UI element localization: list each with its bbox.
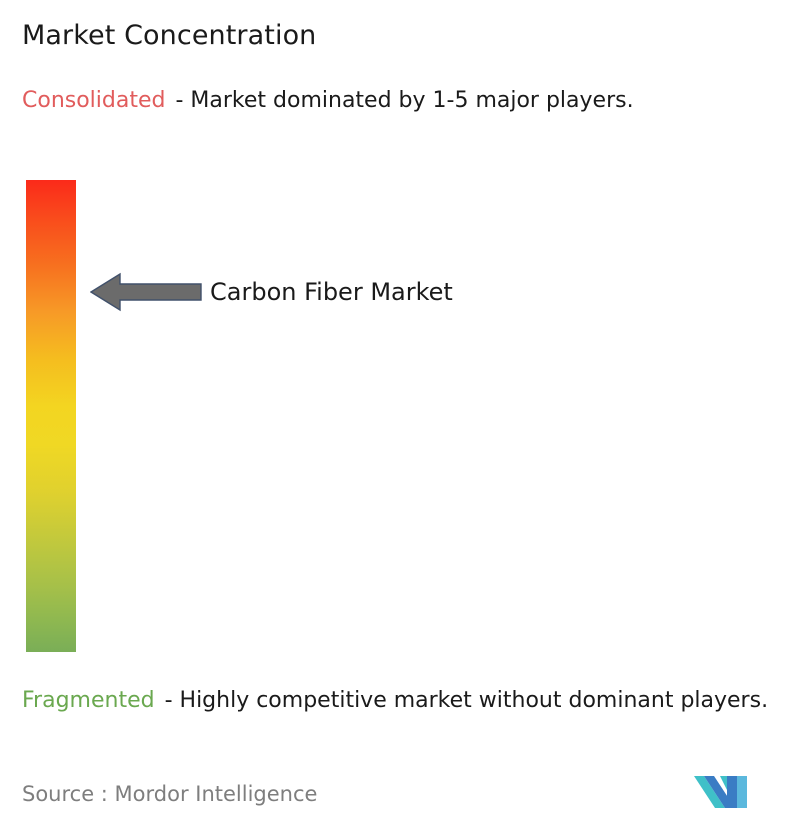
legend-description-consolidated: - Market dominated by 1-5 major players. <box>175 88 633 113</box>
legend-consolidated: Consolidated- Market dominated by 1-5 ma… <box>22 85 762 116</box>
source-attribution: Source : Mordor Intelligence <box>22 780 317 808</box>
mordor-intelligence-logo-icon <box>694 770 756 814</box>
marker-arrow-icon <box>90 271 202 313</box>
page-title: Market Concentration <box>22 18 316 54</box>
concentration-scale-bar <box>26 180 76 652</box>
legend-description-fragmented: - Highly competitive market without domi… <box>165 688 768 713</box>
legend-fragmented: Fragmented- Highly competitive market wi… <box>22 685 784 716</box>
legend-keyword-consolidated: Consolidated <box>22 88 165 113</box>
marker-label: Carbon Fiber Market <box>210 277 453 307</box>
legend-keyword-fragmented: Fragmented <box>22 688 155 713</box>
market-concentration-infographic: Market Concentration Consolidated- Marke… <box>0 0 796 834</box>
